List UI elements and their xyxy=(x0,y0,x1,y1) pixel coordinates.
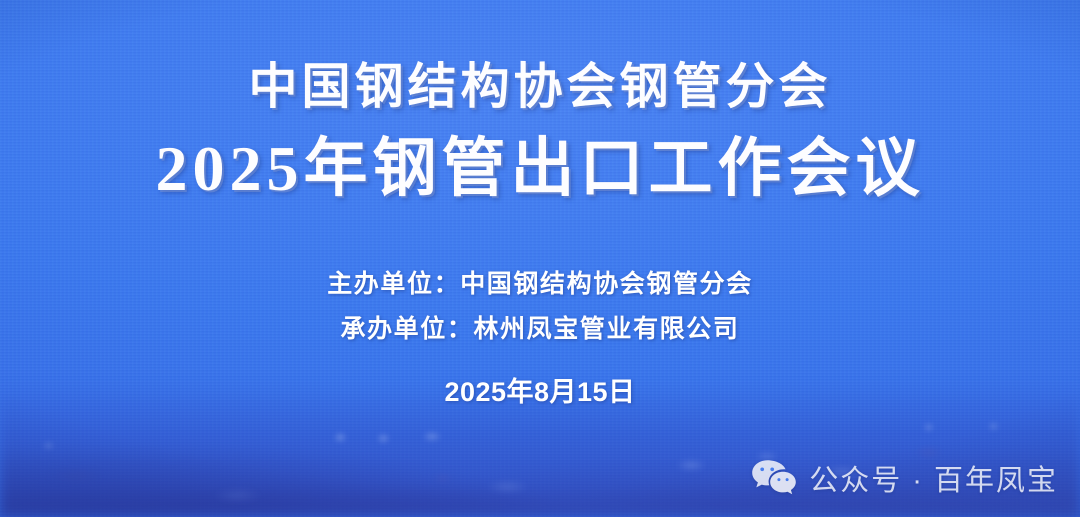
wechat-icon xyxy=(751,459,797,497)
host-organization-line: 主办单位：中国钢结构协会钢管分会 xyxy=(0,272,1080,297)
banner-title-block: 中国钢结构协会钢管分会 2025年钢管出口工作会议 xyxy=(0,62,1080,201)
banner-title-line-2: 2025年钢管出口工作会议 xyxy=(0,137,1080,201)
banner-title-line-1: 中国钢结构协会钢管分会 xyxy=(0,62,1080,111)
wechat-watermark: 公众号 · 百年凤宝 xyxy=(751,457,1058,499)
co-organizer-line: 承办单位：林州凤宝管业有限公司 xyxy=(0,317,1080,342)
banner-content: 中国钢结构协会钢管分会 2025年钢管出口工作会议 主办单位：中国钢结构协会钢管… xyxy=(0,0,1080,517)
watermark-text: 公众号 · 百年凤宝 xyxy=(809,457,1058,499)
event-date: 2025年8月15日 xyxy=(0,379,1080,406)
organizer-block: 主办单位：中国钢结构协会钢管分会 承办单位：林州凤宝管业有限公司 xyxy=(0,272,1080,342)
conference-banner: 中国钢结构协会钢管分会 2025年钢管出口工作会议 主办单位：中国钢结构协会钢管… xyxy=(0,0,1080,517)
